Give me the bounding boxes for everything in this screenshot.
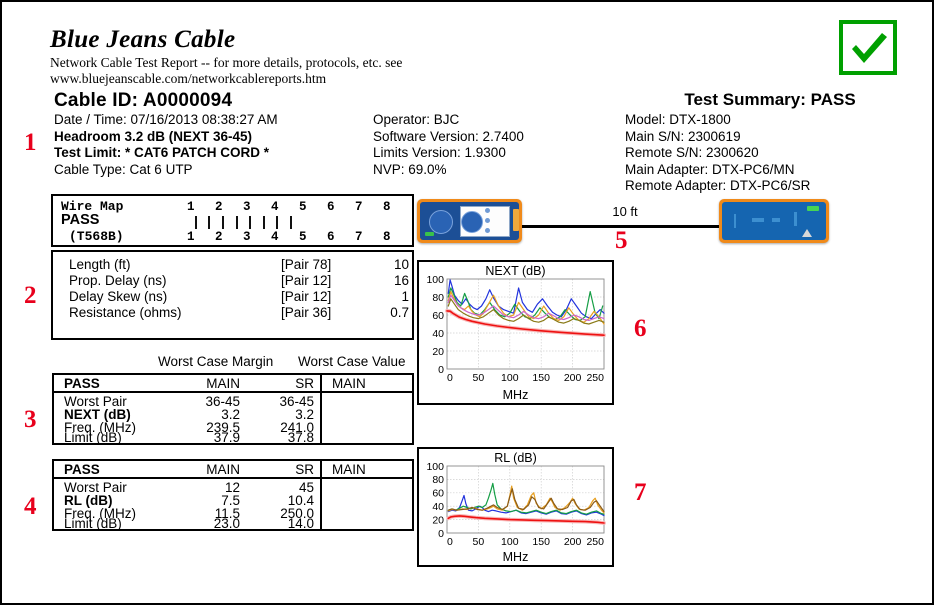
measurement-pair: [Pair 12] xyxy=(281,273,331,288)
header-remote-sn: Remote S/N: 2300620 xyxy=(625,145,810,162)
annotation-number-3: 3 xyxy=(24,407,37,432)
svg-text:20: 20 xyxy=(432,514,444,526)
chart-xlabel: MHz xyxy=(419,550,612,564)
wiremap-pin-line xyxy=(271,216,285,229)
svg-text:250: 250 xyxy=(586,536,604,548)
annotation-number-6: 6 xyxy=(634,316,647,341)
table-result: PASS xyxy=(64,462,100,477)
svg-text:60: 60 xyxy=(432,488,444,500)
annotation-number-7: 7 xyxy=(634,480,647,505)
svg-text:100: 100 xyxy=(426,274,444,286)
worst-case-value-header: Worst Case Value xyxy=(298,354,406,369)
brand-subtitle-line1: Network Cable Test Report -- for more de… xyxy=(50,55,470,70)
table-divider xyxy=(54,477,412,479)
next-chart-panel: NEXT (dB) 020406080100050100150200250 MH… xyxy=(417,260,614,405)
remote-warning-icon xyxy=(802,229,812,237)
svg-text:0: 0 xyxy=(447,372,453,384)
table-row-sr: 14.0 xyxy=(250,516,314,531)
table-col-main: MAIN xyxy=(176,376,240,391)
header-column-left: Date / Time: 07/16/2013 08:38:27 AM Head… xyxy=(54,112,278,178)
brand-subtitle-line2: www.bluejeanscable.com/networkcablerepor… xyxy=(50,71,470,86)
table-col-main: MAIN xyxy=(176,462,240,477)
svg-text:20: 20 xyxy=(432,346,444,358)
table-col-main-2: MAIN xyxy=(332,462,366,477)
wiremap-standard: (T568B) xyxy=(69,229,124,244)
brand-title: Blue Jeans Cable xyxy=(50,26,470,54)
measurement-label: Resistance (ohms) xyxy=(69,305,182,320)
svg-text:80: 80 xyxy=(432,474,444,486)
svg-text:250: 250 xyxy=(586,372,604,384)
wiremap-pin-line xyxy=(257,216,271,229)
header-operator: Operator: BJC xyxy=(373,112,524,129)
wiremap-pins-top: 1 2 3 4 5 6 7 8 xyxy=(187,200,397,214)
wiremap-pin-line xyxy=(203,216,217,229)
table-divider xyxy=(320,461,322,529)
pass-check-badge xyxy=(839,20,897,75)
tester-led xyxy=(425,232,434,236)
wiremap-pin-line xyxy=(230,216,244,229)
svg-text:50: 50 xyxy=(473,536,485,548)
table-divider xyxy=(54,391,412,393)
measurement-pair: [Pair 78] xyxy=(281,257,331,272)
wiremap-pin-line xyxy=(216,216,230,229)
rl-chart-svg: 020406080100050100150200250 xyxy=(419,449,612,565)
wiremap-pin-line xyxy=(243,216,257,229)
svg-text:0: 0 xyxy=(447,536,453,548)
table-row-main: 37.9 xyxy=(176,430,240,445)
header-headroom: Headroom 3.2 dB (NEXT 36-45) xyxy=(54,129,278,146)
svg-text:150: 150 xyxy=(532,536,550,548)
measurement-value: 10 xyxy=(363,257,409,272)
tester-setup-diagram: 10 ft xyxy=(417,198,829,248)
svg-text:0: 0 xyxy=(438,364,444,376)
measurement-value: 0.7 xyxy=(363,305,409,320)
next-margin-table: PASS MAIN SR MAIN SR Worst Pair 36-45 36… xyxy=(52,373,414,445)
table-row-label: Limit (dB) xyxy=(64,430,122,445)
header-main-sn: Main S/N: 2300619 xyxy=(625,129,810,146)
header-column-right: Model: DTX-1800 Main S/N: 2300619 Remote… xyxy=(625,112,810,195)
measurement-pair: [Pair 36] xyxy=(281,305,331,320)
svg-text:40: 40 xyxy=(432,328,444,340)
rl-margin-table: PASS MAIN SR MAIN SR Worst Pair 12 45 RL… xyxy=(52,459,414,531)
rl-chart-panel: RL (dB) 020406080100050100150200250 MHz xyxy=(417,447,614,567)
dtx-remote-tester-icon xyxy=(719,199,829,243)
wiremap-result: PASS xyxy=(61,212,99,228)
tester-dial xyxy=(429,210,453,234)
test-summary-title: Test Summary: PASS xyxy=(625,90,915,110)
table-col-sr: SR xyxy=(250,462,314,477)
next-chart-svg: 020406080100050100150200250 xyxy=(419,262,612,403)
remote-led xyxy=(807,206,819,211)
chart-xlabel: MHz xyxy=(419,388,612,402)
svg-text:100: 100 xyxy=(501,372,519,384)
measurement-pair: [Pair 12] xyxy=(281,289,331,304)
header-limits-version: Limits Version: 1.9300 xyxy=(373,145,524,162)
svg-text:100: 100 xyxy=(426,461,444,473)
header-column-middle: Operator: BJC Software Version: 2.7400 L… xyxy=(373,112,524,178)
worst-case-margin-header: Worst Case Margin xyxy=(158,354,273,369)
svg-text:50: 50 xyxy=(473,372,485,384)
table-row-label: Limit (dB) xyxy=(64,516,122,531)
wiremap-pin-line xyxy=(189,216,203,229)
svg-text:100: 100 xyxy=(501,536,519,548)
svg-text:80: 80 xyxy=(432,292,444,304)
page-title: Cable ID: A0000094 xyxy=(54,90,232,112)
svg-text:40: 40 xyxy=(432,501,444,513)
header-nvp: NVP: 69.0% xyxy=(373,162,524,179)
table-col-sr: SR xyxy=(250,376,314,391)
wiremap-pin-line xyxy=(284,216,298,229)
header-software-version: Software Version: 2.7400 xyxy=(373,129,524,146)
measurement-value: 16 xyxy=(363,273,409,288)
measurement-label: Delay Skew (ns) xyxy=(69,289,167,304)
wiremap-connections xyxy=(189,216,298,229)
svg-text:200: 200 xyxy=(564,536,582,548)
tester-keypad xyxy=(461,211,483,233)
table-row-sr: 37.8 xyxy=(250,430,314,445)
brand-header: Blue Jeans Cable Network Cable Test Repo… xyxy=(50,26,470,86)
measurement-value: 1 xyxy=(363,289,409,304)
annotation-number-1: 1 xyxy=(24,130,37,155)
table-col-main-2: MAIN xyxy=(332,376,366,391)
table-divider xyxy=(320,375,322,443)
svg-text:0: 0 xyxy=(438,528,444,540)
svg-text:150: 150 xyxy=(532,372,550,384)
annotation-number-2: 2 xyxy=(24,283,37,308)
svg-text:60: 60 xyxy=(432,310,444,322)
cable-connection-line xyxy=(521,225,721,228)
wiremap-panel: Wire Map PASS (T568B) 1 2 3 4 5 6 7 8 1 … xyxy=(51,194,414,247)
header-main-adapter: Main Adapter: DTX-PC6/MN xyxy=(625,162,810,179)
check-mark-icon xyxy=(843,24,893,71)
cable-length-label: 10 ft xyxy=(585,204,665,219)
svg-text:200: 200 xyxy=(564,372,582,384)
header-date-time: Date / Time: 07/16/2013 08:38:27 AM xyxy=(54,112,278,129)
measurement-label: Prop. Delay (ns) xyxy=(69,273,167,288)
header-remote-adapter: Remote Adapter: DTX-PC6/SR xyxy=(625,178,810,195)
report-page: Blue Jeans Cable Network Cable Test Repo… xyxy=(0,0,934,605)
measurements-panel: Length (ft) [Pair 78] 10 Prop. Delay (ns… xyxy=(51,250,414,340)
annotation-number-4: 4 xyxy=(24,494,37,519)
measurement-label: Length (ft) xyxy=(69,257,131,272)
header-model: Model: DTX-1800 xyxy=(625,112,810,129)
header-cable-type: Cable Type: Cat 6 UTP xyxy=(54,162,278,179)
wiremap-pins-bottom: 1 2 3 4 5 6 7 8 xyxy=(187,230,397,244)
tester-port xyxy=(513,209,519,231)
header-test-limit: Test Limit: * CAT6 PATCH CORD * xyxy=(54,145,278,162)
table-result: PASS xyxy=(64,376,100,391)
table-row-main: 23.0 xyxy=(176,516,240,531)
dtx-main-tester-icon xyxy=(417,199,522,243)
